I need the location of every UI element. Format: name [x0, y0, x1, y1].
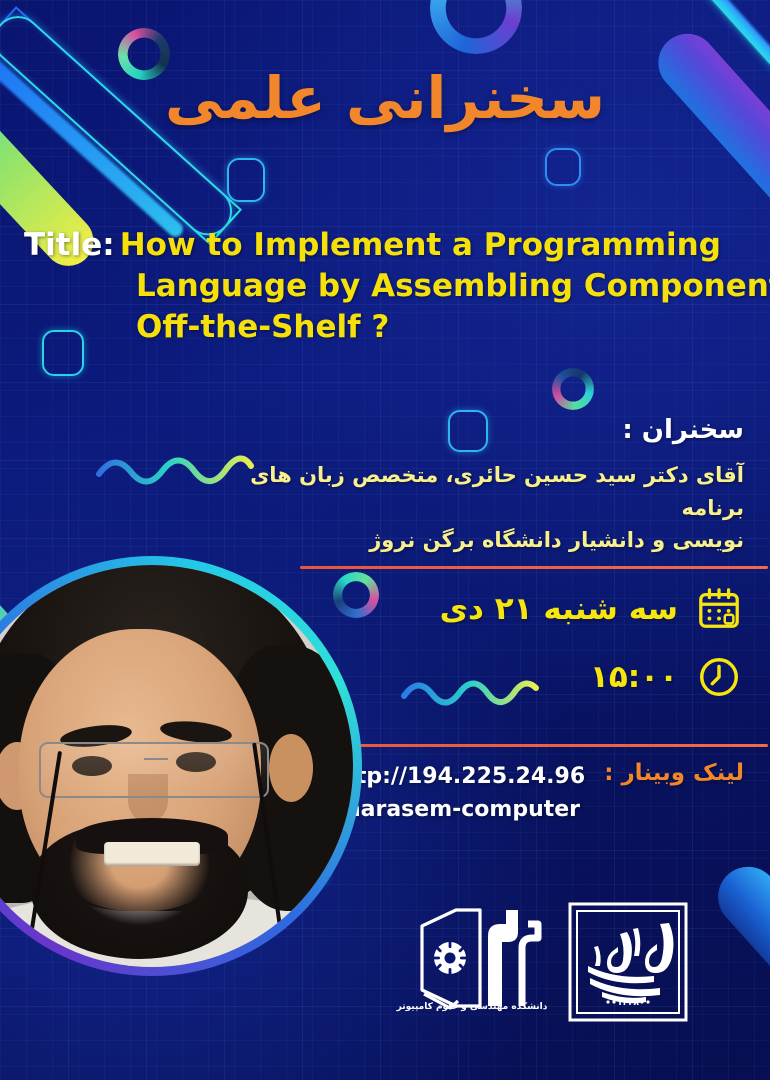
time-row: ۱۵:۰۰: [322, 654, 742, 700]
holographic-ring-icon: [430, 0, 522, 54]
holographic-ring-right-icon: [552, 368, 594, 410]
webinar-link-url[interactable]: http://194.225.24.96 /marasem-computer: [330, 760, 585, 826]
divider-bottom: [300, 744, 768, 747]
datetime-block: سه شنبه ۲۱ دی ۱۵:۰۰: [322, 586, 742, 722]
speaker-name-line-1: آقای دکتر سید حسین حائری، متخصص زبان های…: [184, 459, 744, 524]
university-founding-year: ۱۳۳۸: [617, 998, 639, 1008]
rounded-square-outline-icon: [227, 158, 265, 202]
speakers-label: سخنران :: [184, 415, 744, 445]
speaker-name-line-2: نویسی و دانشیار دانشگاه برگن نروژ: [184, 524, 744, 557]
logos-row: دانشکده مهندسی و علوم کامپیوتر ۱۳۳۸: [400, 898, 720, 1038]
calendar-icon: [696, 586, 742, 632]
faculty-logo-caption: دانشکده مهندسی و علوم کامپیوتر: [392, 1002, 552, 1012]
title-text-line-1: How to Implement a Programming: [120, 227, 721, 263]
speaker-name-block: آقای دکتر سید حسین حائری، متخصص زبان های…: [184, 459, 744, 557]
webinar-link-label: لینک وبینار :: [604, 760, 744, 786]
divider-top: [300, 566, 768, 569]
shahid-beheshti-university-logo: ۱۳۳۸: [568, 902, 688, 1022]
event-time: ۱۵:۰۰: [590, 659, 678, 695]
title-line-2: Language by Assembling Components: [24, 266, 748, 307]
clock-icon: [696, 654, 742, 700]
rounded-square-outline-4-icon: [545, 148, 581, 186]
date-row: سه شنبه ۲۱ دی: [322, 586, 742, 632]
webinar-url-line-2: /marasem-computer: [330, 797, 580, 822]
portrait-glasses-icon: [39, 742, 268, 798]
title-line-3: Off-the-Shelf ?: [24, 307, 748, 348]
speaker-photo-ring: [0, 556, 362, 976]
poster-header-title: سخنرانی علمی: [0, 64, 770, 132]
portrait-ear-right: [269, 734, 313, 802]
event-poster: سخنرانی علمی Title: How to Implement a P…: [0, 0, 770, 1080]
portrait-mouth: [104, 842, 200, 866]
speaker-portrait: [0, 565, 353, 967]
portrait-glasses-bridge: [144, 758, 168, 760]
lecture-title-block: Title: How to Implement a Programming La…: [24, 225, 748, 348]
speakers-block: سخنران : آقای دکتر سید حسین حائری، متخصص…: [184, 415, 744, 557]
event-date: سه شنبه ۲۱ دی: [440, 591, 678, 627]
title-text-line-3: Off-the-Shelf ?: [136, 309, 389, 345]
title-text-line-2: Language by Assembling Components: [136, 268, 770, 304]
webinar-url-line-1: http://194.225.24.96: [330, 764, 585, 789]
title-line-1: Title: How to Implement a Programming: [24, 225, 748, 266]
title-label: Title:: [24, 227, 115, 263]
